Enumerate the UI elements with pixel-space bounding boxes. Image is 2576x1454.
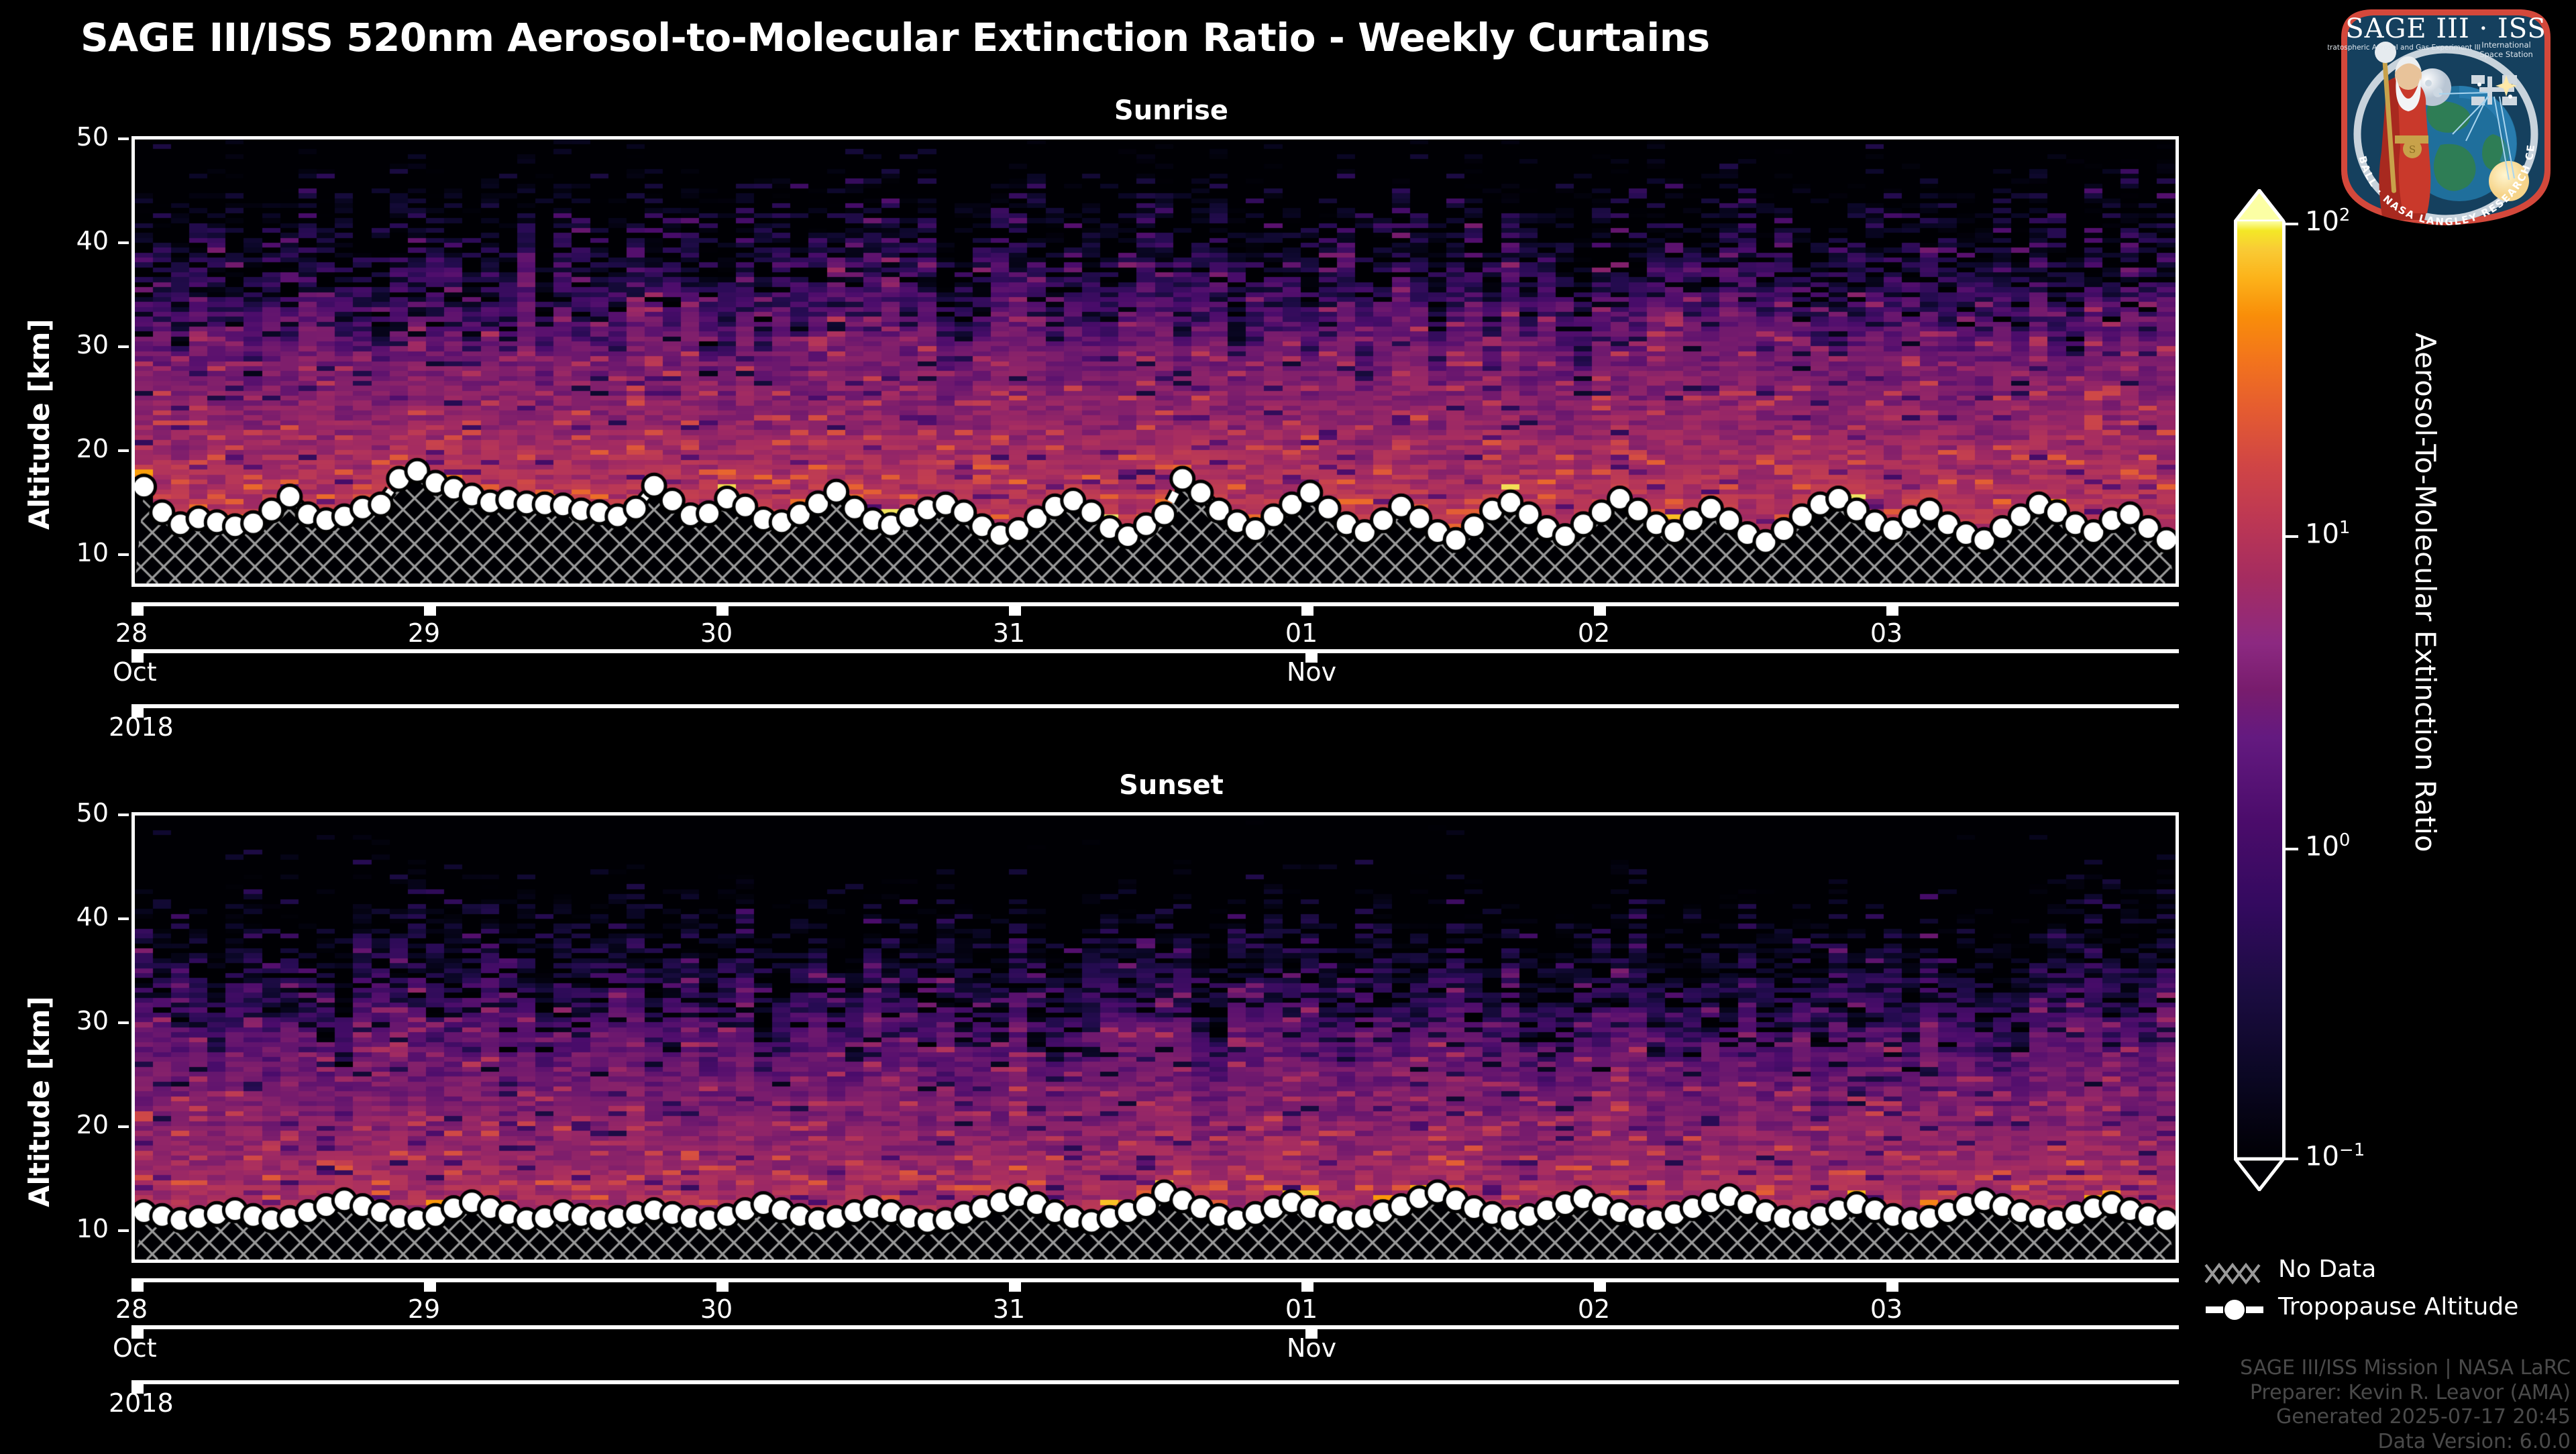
- ytick-mark-sunset-50: [118, 814, 129, 816]
- ytick-sunrise-20: 20: [28, 434, 109, 463]
- ytick-mark-sunset-30: [118, 1021, 129, 1024]
- ytick-sunrise-10: 10: [28, 538, 109, 567]
- ytick-mark-sunset-40: [118, 917, 129, 920]
- svg-text:Space Station: Space Station: [2479, 50, 2533, 59]
- day-level-rule-sunrise: [131, 602, 2179, 606]
- xtick-label: 29: [370, 618, 478, 648]
- legend-label-tropopause: Tropopause Altitude: [2278, 1293, 2518, 1321]
- colorbar-extend-bottom: [2234, 1156, 2285, 1191]
- colorbar-tick-1e2: [2284, 223, 2298, 225]
- month-label-nov-sunset: Nov: [1287, 1333, 1336, 1363]
- plot-area-sunset: [131, 812, 2179, 1263]
- attribution-block: SAGE III/ISS Mission | NASA LaRC Prepare…: [2240, 1356, 2571, 1454]
- year-label-sunset: 2018: [109, 1388, 174, 1418]
- ytick-mark-sunset-10: [118, 1229, 129, 1232]
- month-level-rule-sunset: [131, 1325, 2179, 1329]
- xtick-label: 31: [955, 618, 1063, 648]
- ytick-mark-sunrise-20: [118, 449, 129, 452]
- xtick-label: 28: [78, 618, 185, 648]
- page-title: SAGE III/ISS 520nm Aerosol-to-Molecular …: [80, 15, 2294, 60]
- ytick-mark-sunrise-30: [118, 345, 129, 348]
- day-level-rule-sunset: [131, 1278, 2179, 1282]
- ytick-sunset-50: 50: [28, 798, 109, 828]
- month-level-rule-sunrise: [131, 649, 2179, 653]
- xtick-label: 31: [955, 1294, 1063, 1324]
- panel-title-sunset: Sunset: [131, 770, 2211, 801]
- ytick-sunset-10: 10: [28, 1214, 109, 1243]
- month-label-oct-sunrise: Oct: [113, 657, 157, 687]
- colorbar-tick-1e0: [2284, 848, 2298, 850]
- colorbar-label-1e1: 101: [2305, 518, 2350, 549]
- month-label-nov-sunrise: Nov: [1287, 657, 1336, 687]
- colorbar-edge-right: [2282, 221, 2286, 1159]
- svg-text:Stratospheric Aerosol and Gas: Stratospheric Aerosol and Gas Experiment…: [2328, 44, 2481, 52]
- xtick-label: 30: [663, 618, 770, 648]
- xtick-label: 03: [1833, 1294, 1940, 1324]
- xtick-label: 02: [1540, 618, 1648, 648]
- xtick-label: 30: [663, 1294, 770, 1324]
- year-level-rule-sunset: [131, 1380, 2179, 1384]
- xtick-label: 28: [78, 1294, 185, 1324]
- xtick-label: 29: [370, 1294, 478, 1324]
- month-label-oct-sunset: Oct: [113, 1333, 157, 1363]
- year-label-sunrise: 2018: [109, 712, 174, 742]
- svg-text:International: International: [2481, 40, 2530, 50]
- ytick-sunrise-30: 30: [28, 330, 109, 359]
- ytick-mark-sunrise-10: [118, 553, 129, 556]
- ytick-mark-sunrise-50: [118, 137, 129, 140]
- xtick-label: 02: [1540, 1294, 1648, 1324]
- attribution-line-2: Preparer: Kevin R. Leavor (AMA): [2240, 1381, 2571, 1406]
- dashed-circle-icon: [2204, 1298, 2266, 1321]
- colorbar-gradient: [2235, 221, 2284, 1159]
- sage-iii-iss-logo: S BALL · NASA LANGLEY RESEARCH CENTER · …: [2328, 3, 2564, 228]
- attribution-line-1: SAGE III/ISS Mission | NASA LaRC: [2240, 1356, 2571, 1381]
- panel-title-sunrise: Sunrise: [131, 95, 2211, 126]
- attribution-line-3: Generated 2025-07-17 20:45: [2240, 1405, 2571, 1430]
- colorbar-label-1e-1: 10−1: [2305, 1140, 2365, 1172]
- xtick-label: 01: [1248, 618, 1355, 648]
- colorbar-label-1e2: 102: [2305, 205, 2350, 237]
- colorbar-edge-left: [2234, 221, 2237, 1159]
- ytick-sunset-20: 20: [28, 1110, 109, 1139]
- ytick-mark-sunset-20: [118, 1125, 129, 1128]
- ytick-mark-sunrise-40: [118, 241, 129, 244]
- ytick-sunset-40: 40: [28, 902, 109, 932]
- plot-area-sunrise: [131, 136, 2179, 587]
- ytick-sunrise-50: 50: [28, 122, 109, 152]
- colorbar-tick-1e-1: [2284, 1158, 2298, 1160]
- year-level-rule-sunrise: [131, 704, 2179, 708]
- attribution-line-4: Data Version: 6.0.0: [2240, 1430, 2571, 1454]
- xtick-label: 01: [1248, 1294, 1355, 1324]
- ytick-sunset-30: 30: [28, 1006, 109, 1036]
- hatch-xx-icon: [2204, 1260, 2266, 1285]
- ytick-sunrise-40: 40: [28, 226, 109, 256]
- colorbar-tick-1e1: [2284, 535, 2298, 538]
- colorbar-title: Aerosol-To-Molecular Extinction Ratio: [2409, 333, 2442, 852]
- svg-text:S: S: [2409, 144, 2416, 156]
- xtick-label: 03: [1833, 618, 1940, 648]
- legend-label-no-data: No Data: [2278, 1255, 2376, 1283]
- colorbar-label-1e0: 100: [2305, 830, 2350, 862]
- colorbar-extend-top: [2234, 189, 2285, 224]
